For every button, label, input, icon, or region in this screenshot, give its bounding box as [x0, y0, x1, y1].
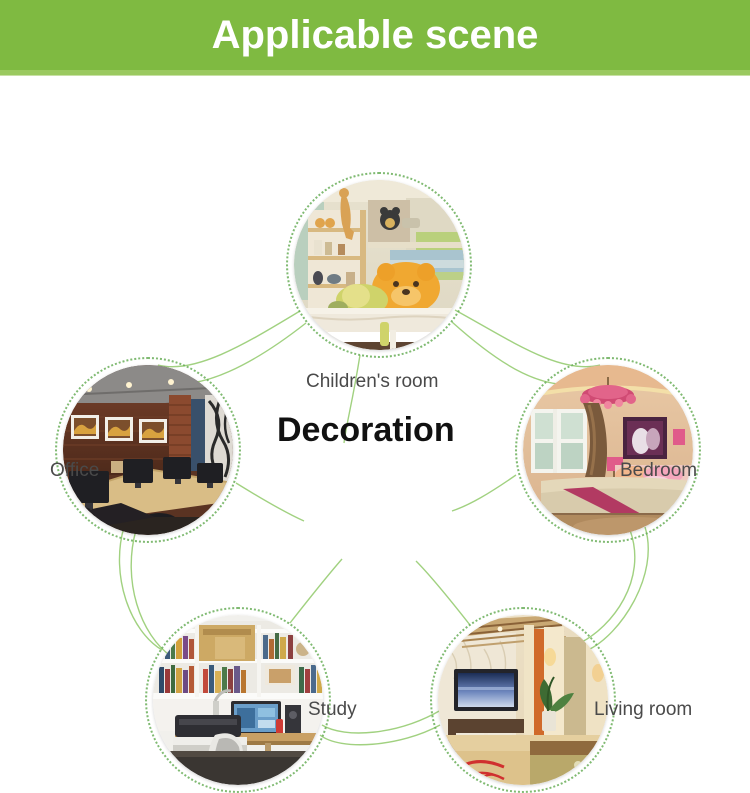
living-room-photo	[438, 615, 608, 785]
office-photo	[63, 365, 233, 535]
scene-node-living-room[interactable]	[430, 607, 616, 793]
scene-diagram: Children's room	[0, 75, 750, 750]
scene-node-office[interactable]	[55, 357, 241, 543]
study-photo	[153, 615, 323, 785]
childrens-room-photo	[294, 180, 464, 350]
scene-label-study: Study	[308, 700, 357, 719]
scene-node-childrens-room[interactable]	[286, 172, 472, 358]
center-label: Decoration	[277, 411, 455, 450]
scene-label-living-room: Living room	[594, 700, 692, 719]
scene-label-office: Office	[50, 461, 99, 480]
scene-label-childrens-room: Children's room	[306, 372, 438, 391]
scene-node-bedroom[interactable]	[515, 357, 701, 543]
bedroom-photo	[523, 365, 693, 535]
page-title: Applicable scene	[0, 0, 750, 70]
scene-node-study[interactable]	[145, 607, 331, 793]
scene-label-bedroom: Bedroom	[620, 461, 697, 480]
